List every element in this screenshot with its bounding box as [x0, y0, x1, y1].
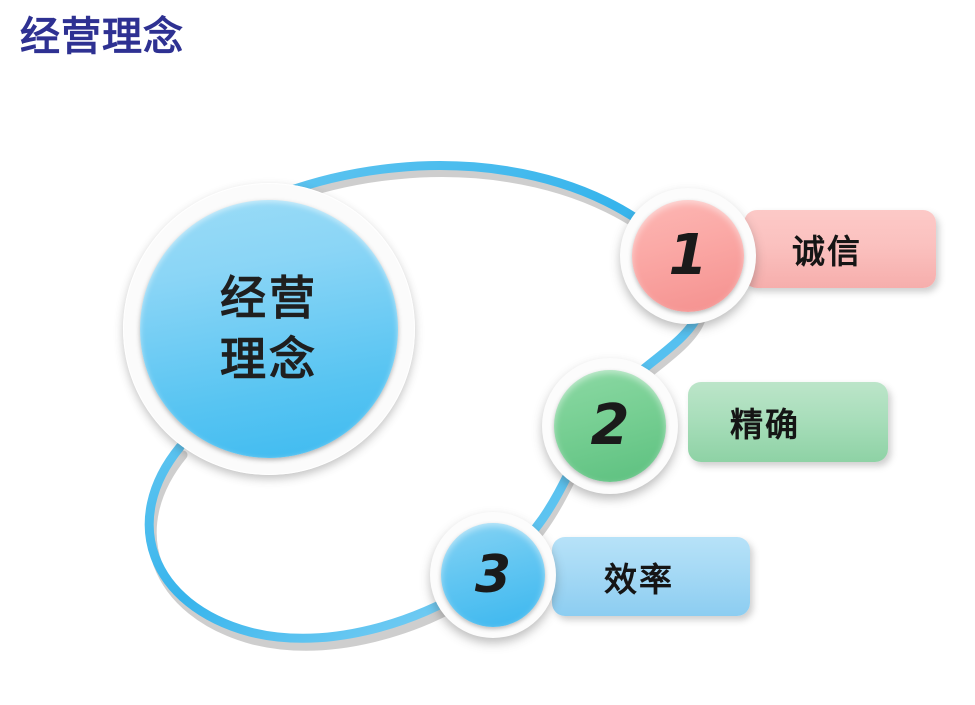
- label-bar-1-text: 诚信: [792, 225, 862, 273]
- node-number-2: 2: [591, 398, 630, 454]
- label-bar-2-text: 精确: [730, 398, 800, 446]
- business-philosophy-diagram: 经营 理念 诚信 精确 效率 1 2 3: [0, 0, 975, 705]
- bottom-arc-shadow: [152, 455, 473, 646]
- label-bar-3[interactable]: 效率: [552, 537, 750, 616]
- bottom-arc: [149, 447, 470, 638]
- hub-circle-fill: 经营 理念: [140, 200, 398, 458]
- hub-label: 经营 理念: [220, 268, 318, 389]
- node-circle-3[interactable]: 3: [430, 512, 556, 638]
- node-circle-3-fill: 3: [441, 523, 545, 627]
- node-number-3: 3: [475, 549, 511, 601]
- node-circle-2[interactable]: 2: [542, 358, 678, 494]
- node-circle-1-fill: 1: [632, 200, 744, 312]
- label-bar-3-text: 效率: [604, 553, 674, 601]
- node-circle-2-fill: 2: [554, 370, 666, 482]
- label-bar-1[interactable]: 诚信: [744, 210, 936, 288]
- hub-circle[interactable]: 经营 理念: [123, 183, 415, 475]
- label-bar-2[interactable]: 精确: [688, 382, 888, 462]
- node-number-1: 1: [669, 228, 708, 284]
- node-circle-1[interactable]: 1: [620, 188, 756, 324]
